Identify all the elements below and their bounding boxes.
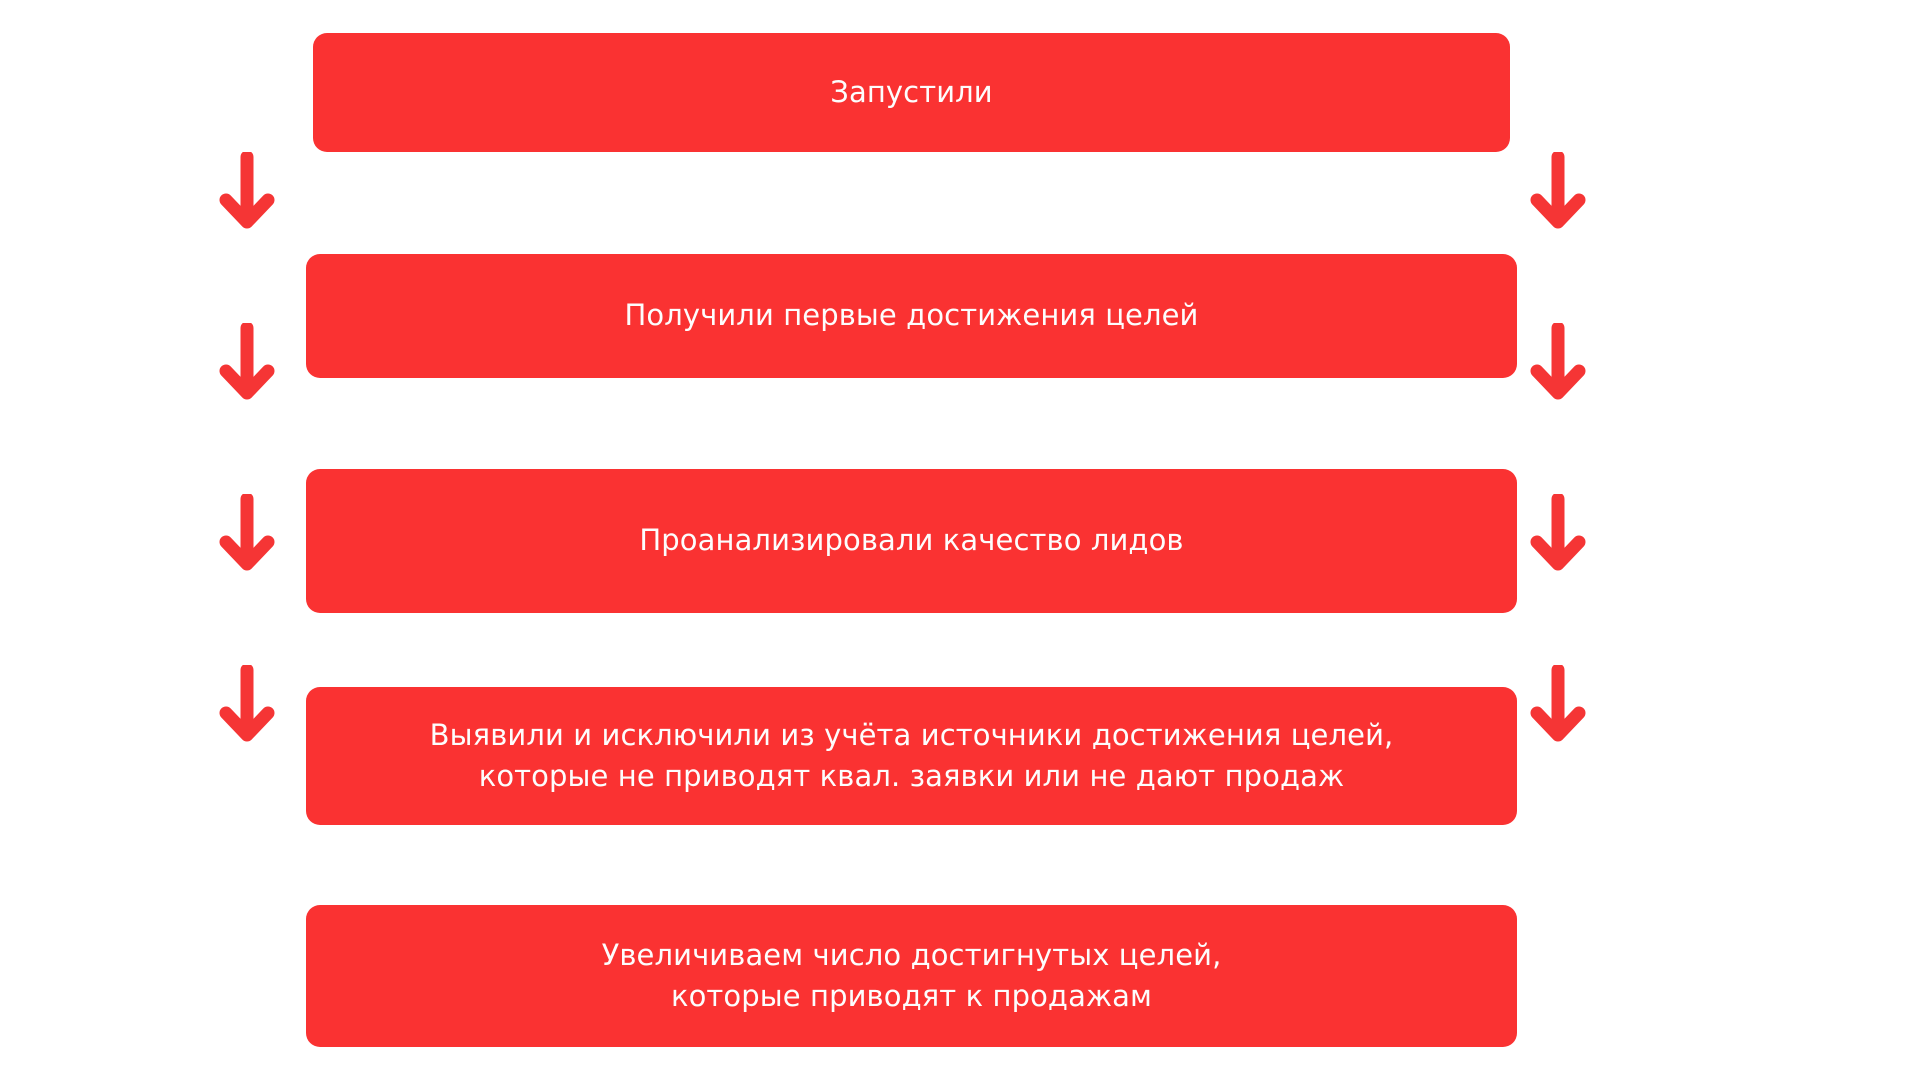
flow-step-3: Проанализировали качество лидов	[306, 469, 1517, 613]
diagram-canvas: Запустили Получили первые достижения цел…	[0, 0, 1920, 1080]
flow-step-1: Запустили	[313, 33, 1510, 152]
arrow-down-icon	[1530, 323, 1586, 403]
flow-step-2: Получили первые достижения целей	[306, 254, 1517, 378]
arrow-down-icon	[219, 665, 275, 745]
arrow-down-icon	[1530, 152, 1586, 232]
arrow-down-icon	[1530, 665, 1586, 745]
flow-step-4-label: Выявили и исключили из учёта источники д…	[430, 715, 1394, 797]
flow-step-3-label: Проанализировали качество лидов	[639, 520, 1183, 561]
flow-step-5: Увеличиваем число достигнутых целей, кот…	[306, 905, 1517, 1047]
flow-step-4: Выявили и исключили из учёта источники д…	[306, 687, 1517, 825]
flow-step-2-label: Получили первые достижения целей	[624, 295, 1198, 336]
flow-step-1-label: Запустили	[830, 72, 992, 113]
arrow-down-icon	[219, 323, 275, 403]
arrow-down-icon	[219, 152, 275, 232]
flow-step-5-label: Увеличиваем число достигнутых целей, кот…	[602, 935, 1222, 1017]
arrow-down-icon	[219, 494, 275, 574]
arrow-down-icon	[1530, 494, 1586, 574]
